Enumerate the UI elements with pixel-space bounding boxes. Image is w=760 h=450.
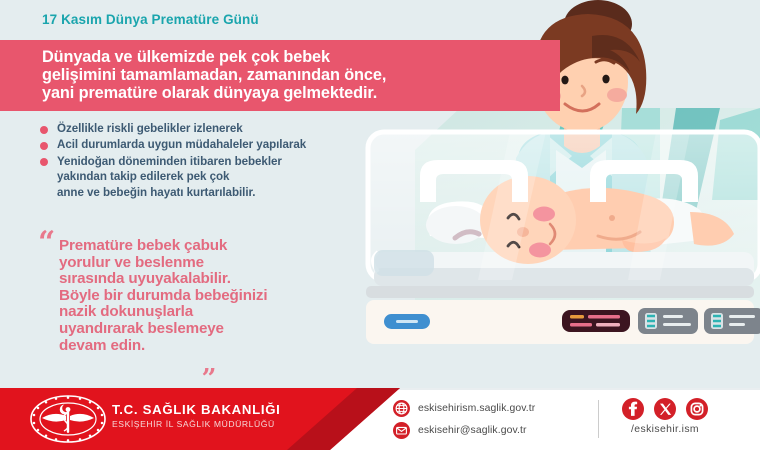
footer-vertical-divider: [598, 400, 599, 438]
social-block: /eskisehir.ism: [622, 398, 708, 435]
list-item-label-line-2: yakından takip edilerek pek çok: [57, 169, 400, 184]
quote-line-7: devam edin.: [59, 338, 288, 355]
globe-icon: [393, 400, 410, 417]
quote-line-4: Böyle bir durumda bebeğinizi: [59, 288, 288, 305]
social-icons: [622, 398, 708, 420]
list-item-label: Yenidoğan döneminden itibaren bebekler: [57, 155, 282, 168]
quote-line-1: Prematüre bebek çabuk: [59, 238, 288, 255]
contact-block: eskisehirism.saglik.gov.tr eskisehir@sag…: [393, 400, 535, 444]
quote-text: Prematüre bebek çabuk yorulur ve beslenm…: [38, 228, 288, 354]
health-ministry-emblem: [28, 394, 108, 444]
quote-line-3: sırasında uyuyakalabilir.: [59, 271, 288, 288]
bullet-dot-icon: [40, 142, 48, 150]
ministry-name: T.C. SAĞLIK BAKANLIĞI ESKİŞEHİR İL SAĞLI…: [112, 402, 281, 429]
ministry-name-secondary: ESKİŞEHİR İL SAĞLIK MÜDÜRLÜĞÜ: [112, 419, 281, 429]
facebook-icon[interactable]: [622, 398, 644, 420]
list-item: Acil durumlarda uygun müdahaleler yapıla…: [40, 137, 400, 152]
quote-line-6: uyandırarak beslemeye: [59, 321, 288, 338]
footer: T.C. SAĞLIK BAKANLIĞI ESKİŞEHİR İL SAĞLI…: [0, 388, 760, 450]
quote-line-5: nazik dokunuşlarla: [59, 304, 288, 321]
headline-line-1: Dünyada ve ülkemizde pek çok bebek: [42, 49, 550, 67]
bullet-dot-icon: [40, 126, 48, 134]
x-twitter-icon[interactable]: [654, 398, 676, 420]
list-item-label-line-3: anne ve bebeğin hayatı kurtarılabilir.: [57, 185, 400, 200]
list-item: Yenidoğan döneminden itibaren bebekler y…: [40, 154, 400, 200]
instagram-icon[interactable]: [686, 398, 708, 420]
bullet-list: Özellikle riskli gebelikler izlenerek Ac…: [40, 121, 400, 201]
poster: 17 Kasım Dünya Prematüre Günü Dünyada ve…: [0, 0, 760, 450]
quote-line-2: yorulur ve beslenme: [59, 255, 288, 272]
ministry-name-primary: T.C. SAĞLIK BAKANLIĞI: [112, 402, 281, 417]
quote-open-mark-icon: “: [38, 228, 55, 258]
headline-line-3: yani prematüre olarak dünyaya gelmektedi…: [42, 85, 550, 103]
list-item-label: Özellikle riskli gebelikler izlenerek: [57, 122, 243, 135]
headline-banner: Dünyada ve ülkemizde pek çok bebek geliş…: [0, 40, 560, 111]
envelope-icon: [393, 422, 410, 439]
email-row[interactable]: eskisehir@saglik.gov.tr: [393, 422, 535, 439]
social-handle: /eskisehir.ism: [622, 424, 708, 435]
list-item-label: Acil durumlarda uygun müdahaleler yapıla…: [57, 138, 306, 151]
quote-close-mark-icon: „: [202, 351, 217, 377]
headline-line-2: gelişimini tamamlamadan, zamanından önce…: [42, 67, 550, 85]
page-title: 17 Kasım Dünya Prematüre Günü: [42, 12, 259, 27]
bullet-dot-icon: [40, 158, 48, 166]
email-address: eskisehir@saglik.gov.tr: [418, 425, 527, 436]
website-row[interactable]: eskisehirism.saglik.gov.tr: [393, 400, 535, 417]
website-url: eskisehirism.saglik.gov.tr: [418, 403, 535, 414]
list-item: Özellikle riskli gebelikler izlenerek: [40, 121, 400, 136]
quote-block: “ Prematüre bebek çabuk yorulur ve besle…: [38, 228, 288, 354]
